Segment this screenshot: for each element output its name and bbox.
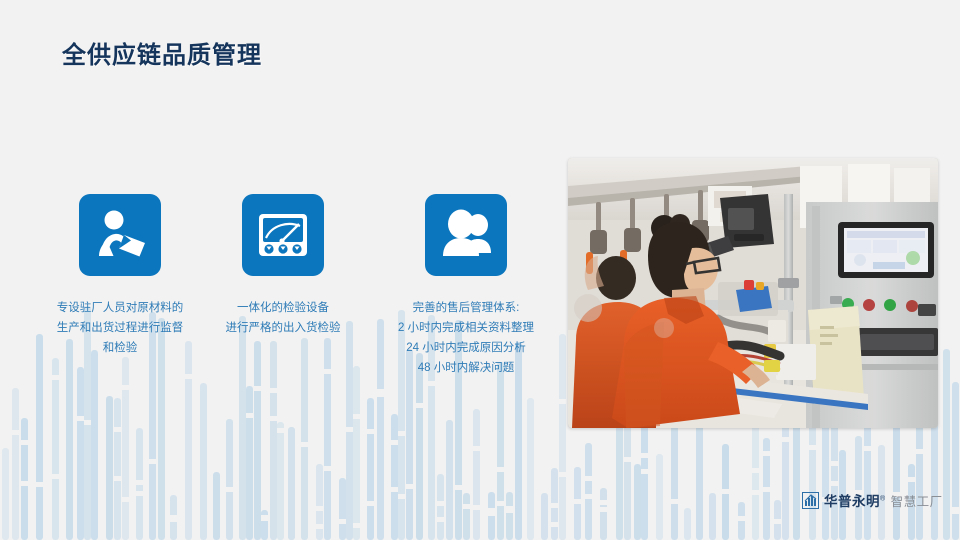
decorative-bar	[36, 334, 43, 540]
decorative-bar-gap	[391, 440, 398, 445]
decorative-bar	[239, 316, 246, 540]
decorative-bar-gap	[473, 446, 480, 451]
decorative-bar-gap	[774, 519, 781, 524]
decorative-bar	[324, 338, 331, 540]
decorative-bar	[473, 409, 480, 540]
decorative-bar	[91, 350, 98, 540]
decorative-bar-gap	[585, 476, 592, 481]
decorative-bar	[943, 349, 950, 540]
decorative-bar-gap	[21, 481, 28, 486]
decorative-bar-gap	[270, 388, 277, 393]
decorative-bar	[738, 502, 745, 540]
decorative-bar	[497, 362, 504, 540]
decorative-bar	[77, 367, 84, 540]
decorative-bar-gap	[398, 494, 405, 499]
decorative-bar-gap	[809, 445, 816, 450]
decorative-bar-gap	[473, 505, 480, 510]
decorative-bar	[122, 357, 129, 540]
decorative-bar-gap	[77, 416, 84, 421]
decorative-bar-gap	[36, 482, 43, 487]
decorative-bar-gap	[506, 506, 513, 511]
decorative-bar-gap	[261, 515, 268, 520]
inspector-person-clipboard-icon	[79, 194, 161, 276]
decorative-bar-gap	[316, 524, 323, 529]
decorative-bar	[12, 388, 19, 540]
decorative-bar-gap	[114, 476, 121, 481]
decorative-bar-gap	[671, 499, 678, 504]
decorative-bar-gap	[261, 516, 268, 521]
decorative-bar-gap	[559, 399, 566, 404]
brand-logo: 华普永明® 智慧工厂	[802, 489, 943, 511]
decorative-bar	[226, 419, 233, 540]
decorative-bar-gap	[377, 392, 384, 397]
decorative-bar	[288, 427, 295, 540]
decorative-bar-gap	[353, 523, 360, 528]
decorative-bar-gap	[185, 374, 192, 379]
decorative-bar	[506, 492, 513, 540]
decorative-bar-gap	[600, 500, 607, 505]
decorative-bar-gap	[428, 381, 435, 386]
decorative-bar-gap	[136, 480, 143, 485]
factory-production-line-photo	[568, 158, 938, 428]
decorative-bar-gap	[122, 385, 129, 390]
decorative-bar-gap	[21, 440, 28, 445]
caption-line: 2 小时内完成相关资料整理	[346, 318, 586, 338]
decorative-bar-gap	[114, 427, 121, 432]
decorative-bar	[527, 398, 534, 540]
feature-3-caption: 完善的售后管理体系: 2 小时内完成相关资料整理 24 小时内完成原因分析 48…	[346, 298, 586, 378]
decorative-bar-gap	[752, 468, 759, 473]
decorative-bar	[463, 493, 470, 540]
decorative-bar	[656, 454, 663, 540]
decorative-bar-gap	[246, 413, 253, 418]
decorative-bar	[391, 414, 398, 540]
decorative-bar-gap	[353, 414, 360, 419]
decorative-bar-gap	[324, 466, 331, 471]
decorative-bar	[301, 338, 308, 540]
decorative-bar	[270, 341, 277, 540]
decorative-bar-gap	[831, 481, 838, 486]
decorative-bar-gap	[367, 429, 374, 434]
decorative-bar	[170, 495, 177, 540]
decorative-bar	[551, 468, 558, 540]
decorative-bar-gap	[254, 386, 261, 391]
decorative-bar-gap	[316, 506, 323, 511]
decorative-bar-gap	[416, 403, 423, 408]
decorative-bar-gap	[122, 497, 129, 502]
caption-line: 48 小时内解决问题	[346, 358, 586, 378]
decorative-bar-gap	[270, 416, 277, 421]
decorative-bar	[367, 398, 374, 540]
decorative-bar-gap	[864, 446, 871, 451]
decorative-bar	[277, 422, 284, 540]
gauge-meter-icon	[242, 194, 324, 276]
decorative-bar-gap	[497, 467, 504, 472]
decorative-bar-gap	[398, 431, 405, 436]
caption-line: 完善的售后管理体系:	[346, 298, 586, 318]
decorative-bar-gap	[84, 420, 91, 425]
decorative-bar-gap	[136, 491, 143, 496]
decorative-bar-gap	[952, 507, 959, 512]
decorative-bar	[752, 420, 759, 540]
decorative-bar-gap	[488, 511, 495, 516]
decorative-bar-gap	[149, 459, 156, 464]
caption-line: 和检验	[0, 338, 240, 358]
decorative-bar-gap	[738, 516, 745, 521]
decorative-bar-gap	[641, 469, 648, 474]
decorative-bar	[722, 444, 729, 540]
logo-sub-text: 智慧工厂	[891, 491, 943, 510]
decorative-bar-gap	[641, 453, 648, 458]
logo-brand-text: 华普永明®	[824, 490, 886, 510]
decorative-bar	[763, 438, 770, 540]
decorative-bar-gap	[226, 487, 233, 492]
decorative-bar-gap	[763, 451, 770, 456]
decorative-bar-gap	[574, 499, 581, 504]
decorative-bar	[541, 493, 548, 540]
decorative-bar-gap	[277, 428, 284, 433]
decorative-bar	[774, 500, 781, 540]
decorative-bar	[200, 383, 207, 540]
caption-line: 24 小时内完成原因分析	[346, 338, 586, 358]
decorative-bar-gap	[488, 508, 495, 513]
decorative-bar	[114, 398, 121, 540]
decorative-bar	[437, 474, 444, 540]
decorative-bar-gap	[437, 501, 444, 506]
decorative-bar	[353, 366, 360, 540]
decorative-bar	[855, 436, 862, 540]
decorative-bar-gap	[170, 515, 177, 520]
decorative-bar-gap	[324, 369, 331, 374]
decorative-bar	[2, 448, 9, 540]
decorative-bar-gap	[52, 375, 59, 380]
decorative-bar-gap	[391, 487, 398, 492]
decorative-bar	[446, 420, 453, 540]
decorative-bar	[21, 418, 28, 540]
decorative-bar-gap	[377, 389, 384, 394]
decorative-bar	[261, 510, 268, 540]
decorative-bar-gap	[952, 509, 959, 514]
decorative-bar-gap	[551, 522, 558, 527]
decorative-bar	[600, 488, 607, 540]
decorative-bar-gap	[908, 477, 915, 482]
slide-canvas: 全供应链品质管理 专设驻厂人员对原材料的 生产和出货过程进行监督 和检验	[0, 0, 960, 540]
decorative-bar	[634, 464, 641, 540]
decorative-bar	[339, 478, 346, 540]
decorative-bar-gap	[752, 490, 759, 495]
decorative-bar	[585, 443, 592, 540]
decorative-bar-gap	[497, 501, 504, 506]
decorative-bar-gap	[367, 501, 374, 506]
decorative-bar	[574, 467, 581, 540]
decorative-bar-gap	[722, 489, 729, 494]
decorative-bar-gap	[463, 504, 470, 509]
decorative-bar-gap	[301, 442, 308, 447]
decorative-bar	[52, 358, 59, 540]
feature-column-3: 完善的售后管理体系: 2 小时内完成相关资料整理 24 小时内完成原因分析 48…	[346, 194, 586, 378]
factory-bars-logo-icon	[802, 492, 819, 509]
decorative-bar-gap	[506, 508, 513, 513]
decorative-bar-gap	[585, 494, 592, 499]
decorative-bar-gap	[406, 484, 413, 489]
decorative-bar-gap	[559, 472, 566, 477]
decorative-bar-gap	[831, 461, 838, 466]
decorative-bar	[136, 428, 143, 540]
decorative-bar	[246, 386, 253, 540]
decorative-bar-gap	[782, 437, 789, 442]
decorative-bar-gap	[624, 457, 631, 462]
decorative-bar	[316, 464, 323, 540]
decorative-bar	[416, 353, 423, 540]
decorative-bar-gap	[916, 449, 923, 454]
decorative-bar	[66, 339, 73, 540]
decorative-bar	[254, 341, 261, 540]
decorative-bar-gap	[346, 427, 353, 432]
decorative-bar-gap	[52, 474, 59, 479]
registered-mark: ®	[880, 496, 886, 503]
decorative-bar-gap	[455, 485, 462, 490]
decorative-bar	[213, 472, 220, 540]
decorative-bar-gap	[12, 430, 19, 435]
decorative-bar-gap	[170, 517, 177, 522]
decorative-bar	[709, 493, 716, 540]
decorative-bar	[488, 492, 495, 540]
decorative-bar	[106, 396, 113, 540]
decorative-bar-gap	[339, 519, 346, 524]
page-title: 全供应链品质管理	[62, 35, 262, 70]
decorative-bar-gap	[551, 503, 558, 508]
decorative-bar-gap	[600, 507, 607, 512]
two-people-icon	[425, 194, 507, 276]
decorative-bar-gap	[763, 487, 770, 492]
decorative-bar	[952, 382, 959, 540]
decorative-bar-gap	[437, 517, 444, 522]
decorative-bar	[684, 508, 691, 540]
decorative-bar	[185, 341, 192, 540]
